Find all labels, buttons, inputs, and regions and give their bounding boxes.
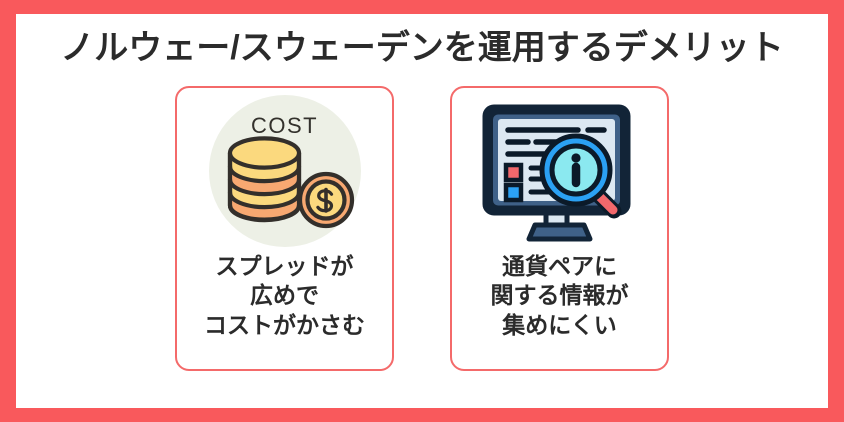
card-cost-label: スプレッドが 広めで コストがかさむ <box>177 252 392 340</box>
magnifier-lens <box>542 136 610 204</box>
info-icon-area <box>450 88 669 256</box>
card-cost-line-1: スプレッドが <box>177 252 392 281</box>
monitor-search-icon <box>472 91 647 253</box>
card-info[interactable]: 通貨ペアに 関する情報が 集めにくい <box>450 86 669 371</box>
card-cost-line-2: 広めで <box>177 281 392 310</box>
screen-marker-blue <box>506 185 521 200</box>
page-title: ノルウェー/スウェーデンを運用するデメリット <box>16 30 828 67</box>
card-info-line-1: 通貨ペアに <box>452 252 667 281</box>
card-cost[interactable]: COST <box>175 86 394 371</box>
cost-icon-area: COST <box>175 88 394 256</box>
card-info-label: 通貨ペアに 関する情報が 集めにくい <box>452 252 667 340</box>
monitor-graphic <box>472 91 647 253</box>
screen-marker-red <box>506 165 521 180</box>
card-info-line-2: 関する情報が <box>452 281 667 310</box>
card-info-line-3: 集めにくい <box>452 311 667 340</box>
card-cost-line-3: コストがかさむ <box>177 311 392 340</box>
content-panel: ノルウェー/スウェーデンを運用するデメリット COST <box>16 14 828 408</box>
coin-stack-icon: COST <box>197 91 372 253</box>
infographic-canvas: ノルウェー/スウェーデンを運用するデメリット COST <box>0 0 844 422</box>
card-row: COST <box>16 86 828 371</box>
coin-stack-graphic <box>197 91 372 253</box>
